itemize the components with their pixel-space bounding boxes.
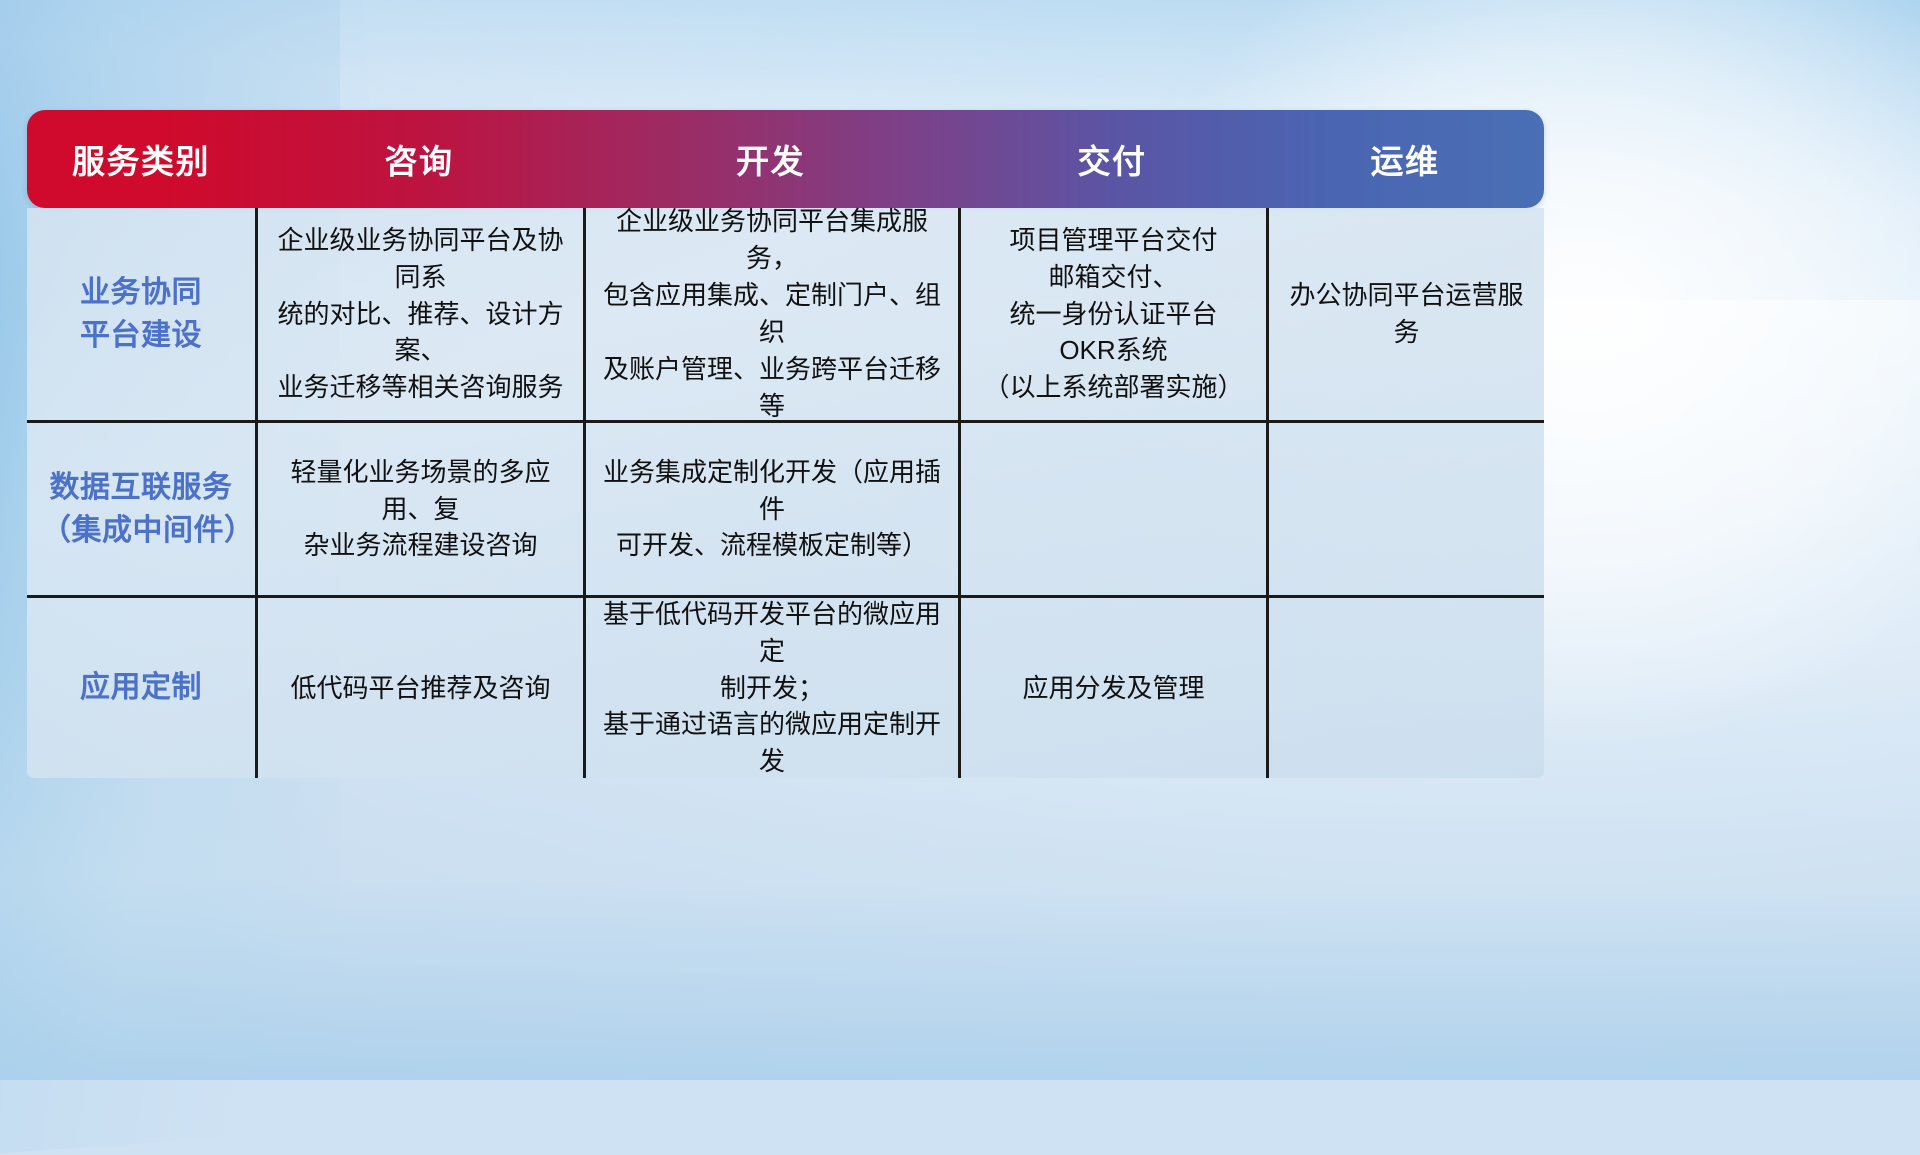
row-label: 应用定制 bbox=[80, 666, 202, 710]
table-row: 数据互联服务 （集成中间件） 轻量化业务场景的多应用、复 杂业务流程建设咨询 业… bbox=[27, 420, 1544, 595]
row-label: 业务协同 平台建设 bbox=[80, 271, 202, 358]
cell-consulting: 低代码平台推荐及咨询 bbox=[255, 598, 583, 778]
cell-text: 业务集成定制化开发（应用插件 可开发、流程模板定制等） bbox=[600, 454, 944, 565]
cell-delivery: 应用分发及管理 bbox=[958, 598, 1266, 778]
cell-text: 项目管理平台交付 邮箱交付、 统一身份认证平台 OKR系统 （以上系统部署实施） bbox=[983, 222, 1243, 407]
cell-text: 低代码平台推荐及咨询 bbox=[290, 670, 550, 707]
column-header-development: 开发 bbox=[583, 135, 958, 183]
cell-operations bbox=[1266, 598, 1544, 778]
row-label-cell: 应用定制 bbox=[27, 598, 255, 778]
cell-delivery: 项目管理平台交付 邮箱交付、 统一身份认证平台 OKR系统 （以上系统部署实施） bbox=[958, 208, 1266, 420]
column-header-consulting: 咨询 bbox=[255, 135, 583, 183]
cell-consulting: 轻量化业务场景的多应用、复 杂业务流程建设咨询 bbox=[255, 423, 583, 595]
table-body: 业务协同 平台建设 企业级业务协同平台及协同系 统的对比、推荐、设计方案、 业务… bbox=[27, 208, 1544, 778]
cell-text: 企业级业务协同平台及协同系 统的对比、推荐、设计方案、 业务迁移等相关咨询服务 bbox=[272, 222, 569, 407]
column-header-operations: 运维 bbox=[1266, 135, 1544, 183]
cell-text: 轻量化业务场景的多应用、复 杂业务流程建设咨询 bbox=[272, 454, 569, 565]
cell-development: 业务集成定制化开发（应用插件 可开发、流程模板定制等） bbox=[583, 423, 958, 595]
cell-text: 企业级业务协同平台集成服务， 包含应用集成、定制门户、组织 及账户管理、业务跨平… bbox=[600, 203, 944, 424]
cell-text: 基于低代码开发平台的微应用定 制开发； 基于通过语言的微应用定制开发 bbox=[600, 596, 944, 781]
cell-text: 办公协同平台运营服务 bbox=[1283, 277, 1530, 351]
column-header-category: 服务类别 bbox=[27, 135, 255, 183]
row-label: 数据互联服务 （集成中间件） bbox=[41, 466, 241, 553]
row-label-cell: 业务协同 平台建设 bbox=[27, 208, 255, 420]
cell-text: 应用分发及管理 bbox=[1022, 670, 1204, 707]
cell-operations: 办公协同平台运营服务 bbox=[1266, 208, 1544, 420]
cell-consulting: 企业级业务协同平台及协同系 统的对比、推荐、设计方案、 业务迁移等相关咨询服务 bbox=[255, 208, 583, 420]
cell-development: 基于低代码开发平台的微应用定 制开发； 基于通过语言的微应用定制开发 bbox=[583, 598, 958, 778]
cell-delivery bbox=[958, 423, 1266, 595]
table-header-row: 服务类别 咨询 开发 交付 运维 bbox=[27, 110, 1544, 208]
column-header-delivery: 交付 bbox=[958, 135, 1266, 183]
table-row: 应用定制 低代码平台推荐及咨询 基于低代码开发平台的微应用定 制开发； 基于通过… bbox=[27, 595, 1544, 778]
service-matrix-table: 服务类别 咨询 开发 交付 运维 业务协同 平台建设 企业级业务协同平台及协同系… bbox=[27, 110, 1544, 778]
cell-development: 企业级业务协同平台集成服务， 包含应用集成、定制门户、组织 及账户管理、业务跨平… bbox=[583, 208, 958, 420]
row-label-cell: 数据互联服务 （集成中间件） bbox=[27, 423, 255, 595]
cell-operations bbox=[1266, 423, 1544, 595]
table-row: 业务协同 平台建设 企业级业务协同平台及协同系 统的对比、推荐、设计方案、 业务… bbox=[27, 208, 1544, 420]
